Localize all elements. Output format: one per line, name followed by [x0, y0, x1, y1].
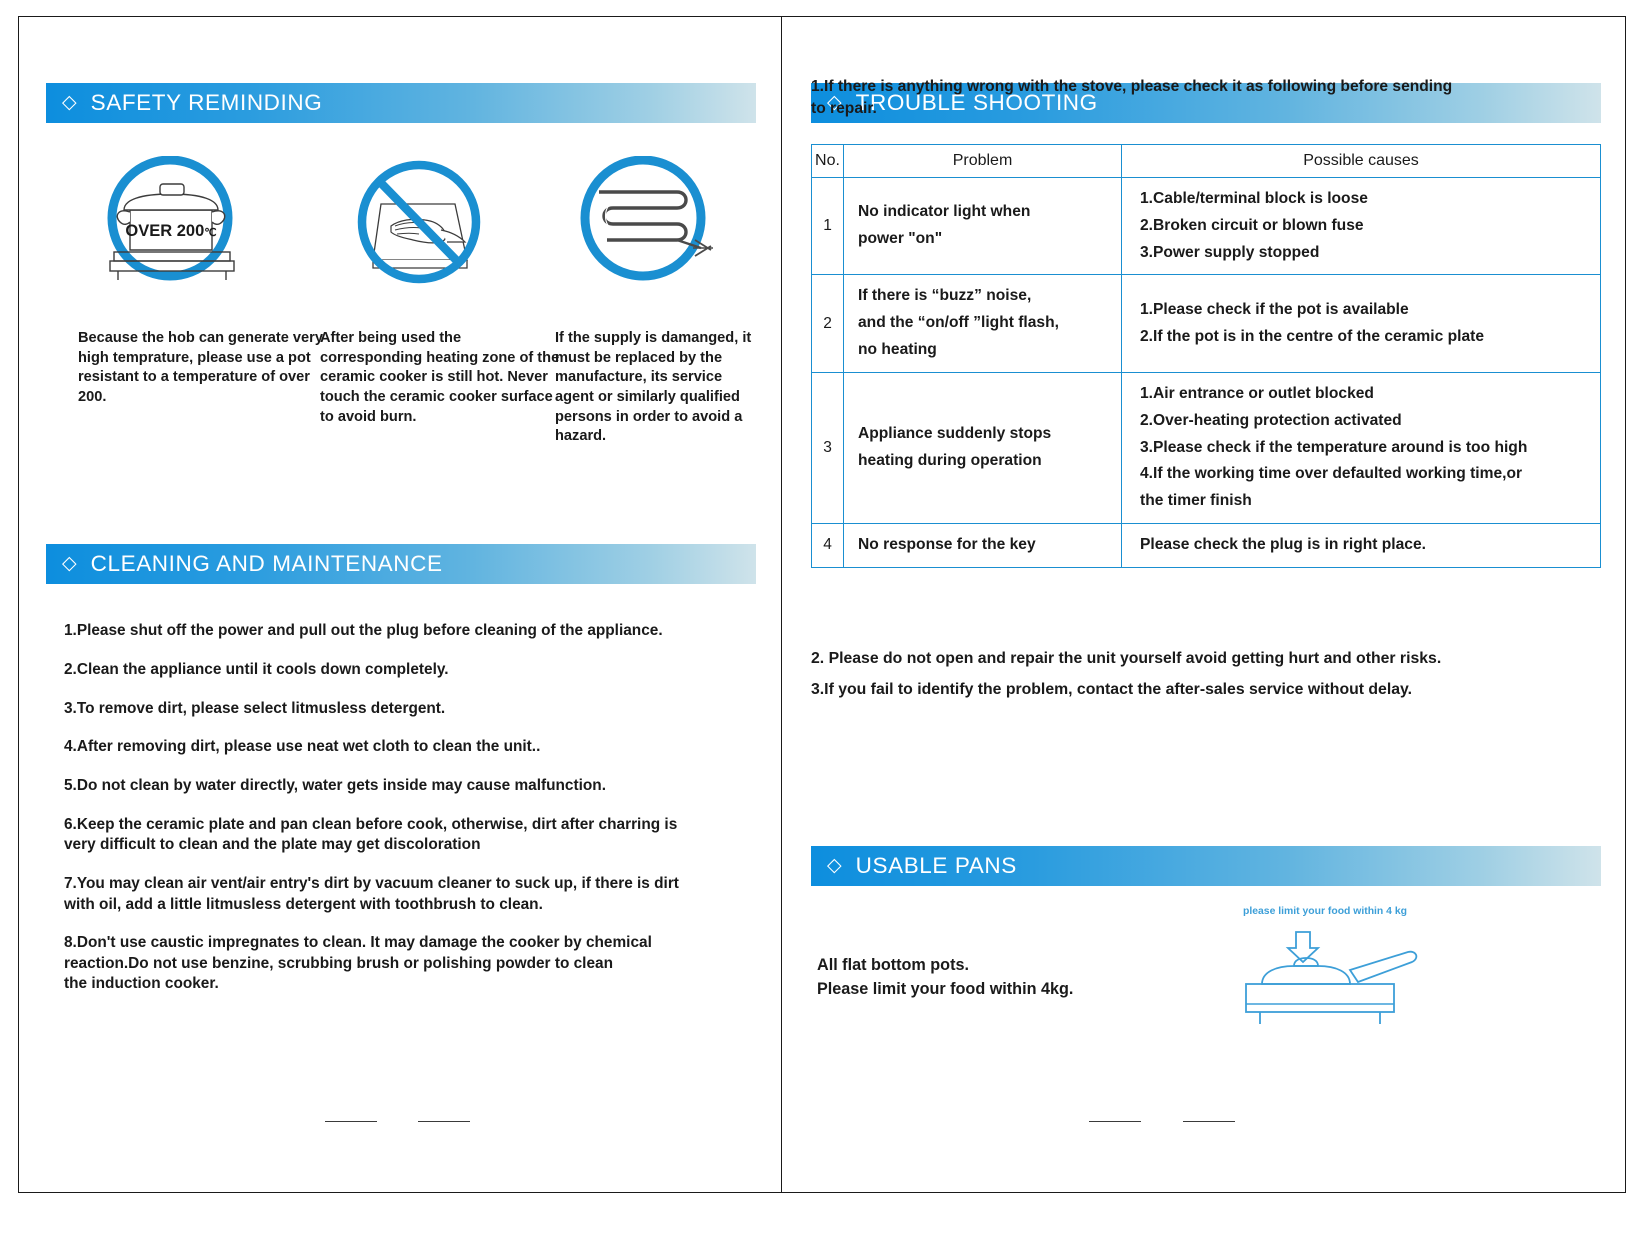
damaged-supply-cord-icon	[573, 156, 738, 286]
row-number: 4	[812, 523, 844, 567]
column-header-no: No.	[812, 145, 844, 178]
safety-caption-1: Because the hob can generate very high t…	[78, 329, 333, 408]
page-tick-mark	[418, 1121, 470, 1122]
column-divider	[781, 16, 782, 1193]
row-causes: 1.Cable/terminal block is loose 2.Broken…	[1122, 178, 1601, 275]
no-touch-hot-surface-icon	[343, 156, 513, 286]
list-item: 3.To remove dirt, please select litmusle…	[64, 699, 779, 719]
list-item: 4.After removing dirt, please use neat w…	[64, 737, 779, 757]
safety-caption-2: After being used the corresponding heati…	[320, 329, 560, 427]
row-causes: 1.Please check if the pot is available 2…	[1122, 275, 1601, 372]
svg-text:OVER 200℃: OVER 200℃	[125, 222, 216, 240]
row-causes: Please check the plug is in right place.	[1122, 523, 1601, 567]
table-row: 3 Appliance suddenly stops heating durin…	[812, 372, 1601, 523]
trouble-shooting-table: No. Problem Possible causes 1 No indicat…	[811, 144, 1601, 568]
note-item: 3.If you fail to identify the problem, c…	[811, 679, 1611, 701]
manual-page: ◇ SAFETY REMINDING OVER 200	[0, 0, 1644, 1247]
hot-pot-over-200-icon: OVER 200℃	[100, 156, 260, 286]
safety-reminding-title: SAFETY REMINDING	[91, 90, 323, 116]
right-column: ◇ TROUBLE SHOOTING 1.If there is anythin…	[783, 16, 1626, 1193]
list-item: 2.Clean the appliance until it cools dow…	[64, 660, 779, 680]
table-row: 4 No response for the key Please check t…	[812, 523, 1601, 567]
trouble-shooting-notes: 2. Please do not open and repair the uni…	[811, 648, 1611, 710]
list-item: 5.Do not clean by water directly, water …	[64, 776, 779, 796]
page-tick-mark	[325, 1121, 377, 1122]
cleaning-instructions-list: 1.Please shut off the power and pull out…	[64, 621, 779, 1013]
usable-pans-header: ◇ USABLE PANS	[811, 846, 1601, 886]
flat-bottom-pan-on-hob-illustration	[1238, 904, 1438, 1039]
page-tick-mark	[1183, 1121, 1235, 1122]
list-item: 1.Please shut off the power and pull out…	[64, 621, 779, 641]
usable-pans-title: USABLE PANS	[856, 853, 1017, 879]
note-item: 2. Please do not open and repair the uni…	[811, 648, 1611, 670]
row-causes: 1.Air entrance or outlet blocked 2.Over-…	[1122, 372, 1601, 523]
row-problem: No response for the key	[844, 523, 1122, 567]
diamond-icon: ◇	[62, 554, 77, 573]
diamond-icon: ◇	[827, 856, 842, 875]
row-number: 1	[812, 178, 844, 275]
row-problem: If there is “buzz” noise, and the “on/of…	[844, 275, 1122, 372]
safety-caption-3: If the supply is damanged, it must be re…	[555, 329, 755, 447]
column-header-problem: Problem	[844, 145, 1122, 178]
list-item: 7.You may clean air vent/air entry's dir…	[64, 874, 779, 915]
row-problem: Appliance suddenly stops heating during …	[844, 372, 1122, 523]
column-header-possible-causes: Possible causes	[1122, 145, 1601, 178]
page-tick-mark	[1089, 1121, 1141, 1122]
row-number: 3	[812, 372, 844, 523]
left-column: ◇ SAFETY REMINDING OVER 200	[18, 16, 781, 1193]
trouble-shooting-intro: 1.If there is anything wrong with the st…	[811, 76, 1601, 120]
row-number: 2	[812, 275, 844, 372]
cleaning-maintenance-title: CLEANING AND MAINTENANCE	[91, 551, 443, 577]
table-row: 2 If there is “buzz” noise, and the “on/…	[812, 275, 1601, 372]
table-header-row: No. Problem Possible causes	[812, 145, 1601, 178]
table-row: 1 No indicator light when power "on" 1.C…	[812, 178, 1601, 275]
list-item: 6.Keep the ceramic plate and pan clean b…	[64, 815, 779, 856]
safety-reminding-header: ◇ SAFETY REMINDING	[46, 83, 756, 123]
row-problem: No indicator light when power "on"	[844, 178, 1122, 275]
cleaning-maintenance-header: ◇ CLEANING AND MAINTENANCE	[46, 544, 756, 584]
usable-pans-text: All flat bottom pots. Please limit your …	[817, 954, 1073, 1002]
list-item: 8.Don't use caustic impregnates to clean…	[64, 933, 779, 994]
diamond-icon: ◇	[62, 93, 77, 112]
